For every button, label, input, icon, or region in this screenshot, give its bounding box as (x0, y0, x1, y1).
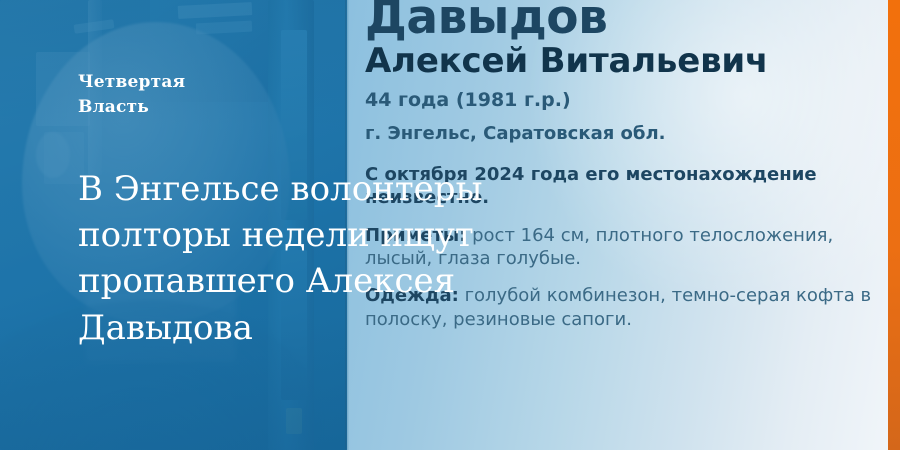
features-label: Приметы: (365, 225, 466, 246)
panel-divider (345, 0, 349, 450)
missing-person-surname: Давыдов (365, 0, 885, 41)
missing-person-status: С октября 2024 года его местонахождение … (365, 163, 885, 210)
photo-vignette-overlay (0, 0, 347, 450)
clothing-label: Одежда: (365, 285, 459, 306)
article-photo-panel (0, 0, 347, 450)
missing-person-poster: Давыдов Алексей Витальевич 44 года (1981… (347, 0, 900, 450)
missing-person-age: 44 года (1981 г.р.) (365, 86, 885, 115)
accent-bar-right (888, 0, 900, 450)
poster-text-block: Давыдов Алексей Витальевич 44 года (1981… (365, 0, 885, 331)
missing-person-features: Приметы: рост 164 см, плотного телосложе… (365, 224, 885, 271)
missing-person-given-name: Алексей Витальевич (365, 41, 885, 82)
news-share-card: Давыдов Алексей Витальевич 44 года (1981… (0, 0, 900, 450)
missing-person-clothing: Одежда: голубой комбинезон, темно-серая … (365, 284, 885, 331)
missing-person-location: г. Энгельс, Саратовская обл. (365, 120, 885, 147)
